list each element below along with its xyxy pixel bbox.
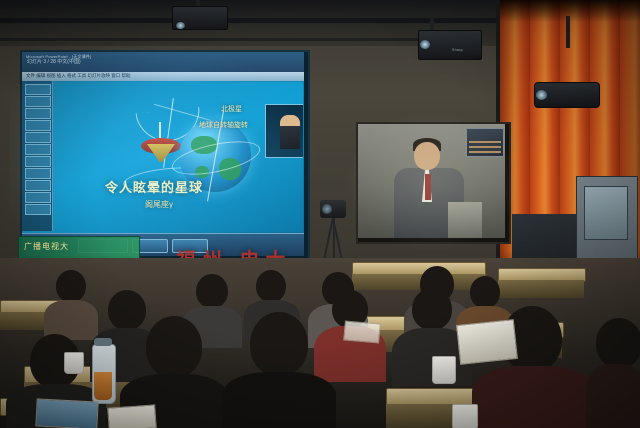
photo-scene: Sharp Microsoft PowerPoint - [天文课件] 文件 编… <box>0 0 640 428</box>
camera-lens-icon <box>322 204 332 214</box>
document-page <box>35 398 98 428</box>
video-speaker-head <box>414 142 440 170</box>
document-page <box>343 320 381 343</box>
slide-thumbnail <box>25 156 51 167</box>
slide-thumbnail <box>25 132 51 143</box>
person-head <box>256 270 286 302</box>
projector-brand-label: Sharp <box>452 48 463 52</box>
speaker-video-inset <box>265 104 303 158</box>
person-head <box>56 270 86 302</box>
paper-cup <box>64 352 84 374</box>
person-head <box>196 274 228 308</box>
document-page <box>107 404 157 428</box>
slide-thumbnail <box>25 84 51 95</box>
desk-front-panel <box>498 280 584 298</box>
powerpoint-status-text: 幻灯片 3 / 28 中文(中国) <box>27 58 81 65</box>
video-speaker-tie <box>425 174 431 200</box>
thermos-cap <box>94 338 112 346</box>
person-torso <box>586 364 640 428</box>
person-head <box>412 288 452 330</box>
slide-thumbnail <box>25 204 51 215</box>
powerpoint-menu-text: 文件 编辑 视图 插入 格式 工具 幻灯片放映 窗口 帮助 <box>26 73 131 79</box>
top-stem <box>159 122 161 138</box>
projector-lens-icon <box>176 22 185 29</box>
thermos-contents <box>94 372 112 400</box>
slide-thumbnail <box>25 168 51 179</box>
slide-label-rotation: 地球自转轴旋转 <box>199 120 248 130</box>
person-torso <box>222 372 336 428</box>
video-podium <box>448 202 482 238</box>
document-page <box>456 319 518 365</box>
slide-label-polaris: 北极星 <box>221 104 242 114</box>
projector-mount <box>566 16 570 48</box>
ceiling-beam <box>0 18 520 23</box>
pip-audience-rows <box>469 141 501 154</box>
person-head <box>108 290 146 330</box>
person-head <box>596 318 640 368</box>
powerpoint-slide: 北极星 地球自转轴旋转 令人眩晕的星球 阁尾座γ <box>53 82 303 232</box>
desk-front-panel <box>352 274 484 290</box>
slide-title: 令人眩晕的星球 <box>105 177 203 196</box>
person-head <box>250 312 308 376</box>
slide-thumbnail <box>25 144 51 155</box>
wall-poster-text: 广播电视大 <box>24 241 69 252</box>
projector-lens-icon <box>420 40 430 49</box>
slide-thumbnail <box>25 192 51 203</box>
slide-caption: 阁尾座γ <box>145 199 173 210</box>
ceiling-beam <box>0 38 470 41</box>
video-screen <box>358 124 505 238</box>
slide-thumbnail <box>25 180 51 191</box>
main-projection-screen: Microsoft PowerPoint - [天文课件] 文件 编辑 视图 插… <box>22 52 304 256</box>
paper-cup <box>452 404 478 428</box>
projector-lens-icon <box>536 90 547 100</box>
person-head <box>146 316 202 378</box>
slide-thumbnail <box>25 96 51 107</box>
video-picture-in-picture <box>466 128 504 157</box>
curtain-shadow-top <box>500 0 640 22</box>
cabinet-panel <box>584 186 628 240</box>
slide-thumbnail <box>25 120 51 131</box>
tripod-leg <box>333 218 335 260</box>
spinning-top-illustration <box>141 130 181 160</box>
person-head <box>470 276 500 308</box>
person-torso <box>472 366 596 428</box>
paper-cup <box>432 356 456 384</box>
speaker-figure <box>280 115 300 149</box>
slide-thumbnail <box>25 108 51 119</box>
